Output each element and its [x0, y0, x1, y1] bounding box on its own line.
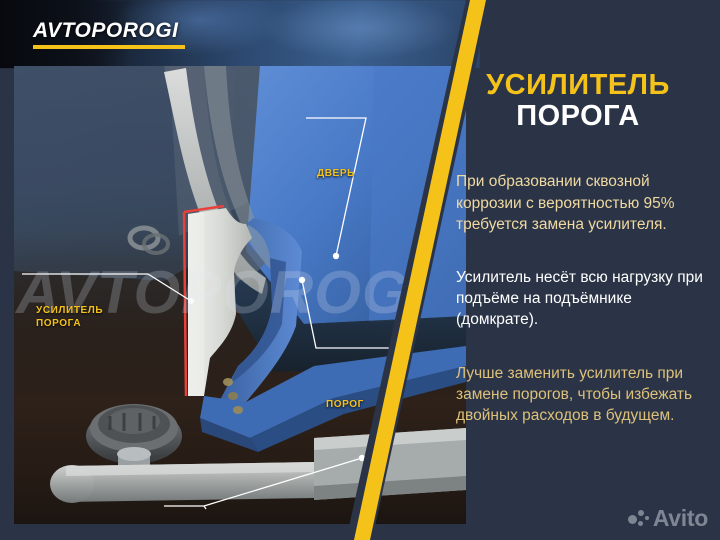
cross-section-vector [14, 66, 466, 524]
callout-door: ДВЕРЬ [317, 168, 355, 179]
poster-canvas: AVTOPOROGI [0, 0, 720, 540]
illustration-panel: AVTOPOROGI [0, 0, 480, 540]
title-line-1: УСИЛИТЕЛЬ [450, 70, 706, 101]
brand-logo-text: AVTOPOROGI [33, 20, 185, 41]
avito-dots-icon [628, 510, 649, 527]
title-line-2: ПОРОГА [450, 101, 706, 132]
brand-logo: AVTOPOROGI [33, 20, 185, 49]
avito-watermark: Avito [628, 505, 708, 532]
brand-logo-underline [33, 45, 185, 49]
paragraph-load: Усилитель несёт всю нагрузку при подъёме… [456, 267, 706, 330]
page-title: УСИЛИТЕЛЬ ПОРОГА [450, 70, 706, 131]
callout-sill: ПОРОГ [326, 399, 364, 410]
text-panel: УСИЛИТЕЛЬ ПОРОГА При образовании сквозно… [440, 0, 720, 540]
callout-reinforcement-line2: ПОРОГА [36, 318, 103, 331]
callout-reinforcement: УСИЛИТЕЛЬ ПОРОГА [36, 305, 103, 330]
paragraph-corrosion: При образовании сквозной коррозии с веро… [456, 171, 706, 234]
callout-reinforcement-line1: УСИЛИТЕЛЬ [36, 305, 103, 318]
avito-wordmark: Avito [653, 505, 708, 532]
sill-cross-section-illustration: УСИЛИТЕЛЬ ПОРОГА ДВЕРЬ ПОРОГ ПОДЪЁМНИК [14, 66, 466, 524]
paragraph-advice: Лучше заменить усилитель при замене поро… [456, 363, 706, 426]
